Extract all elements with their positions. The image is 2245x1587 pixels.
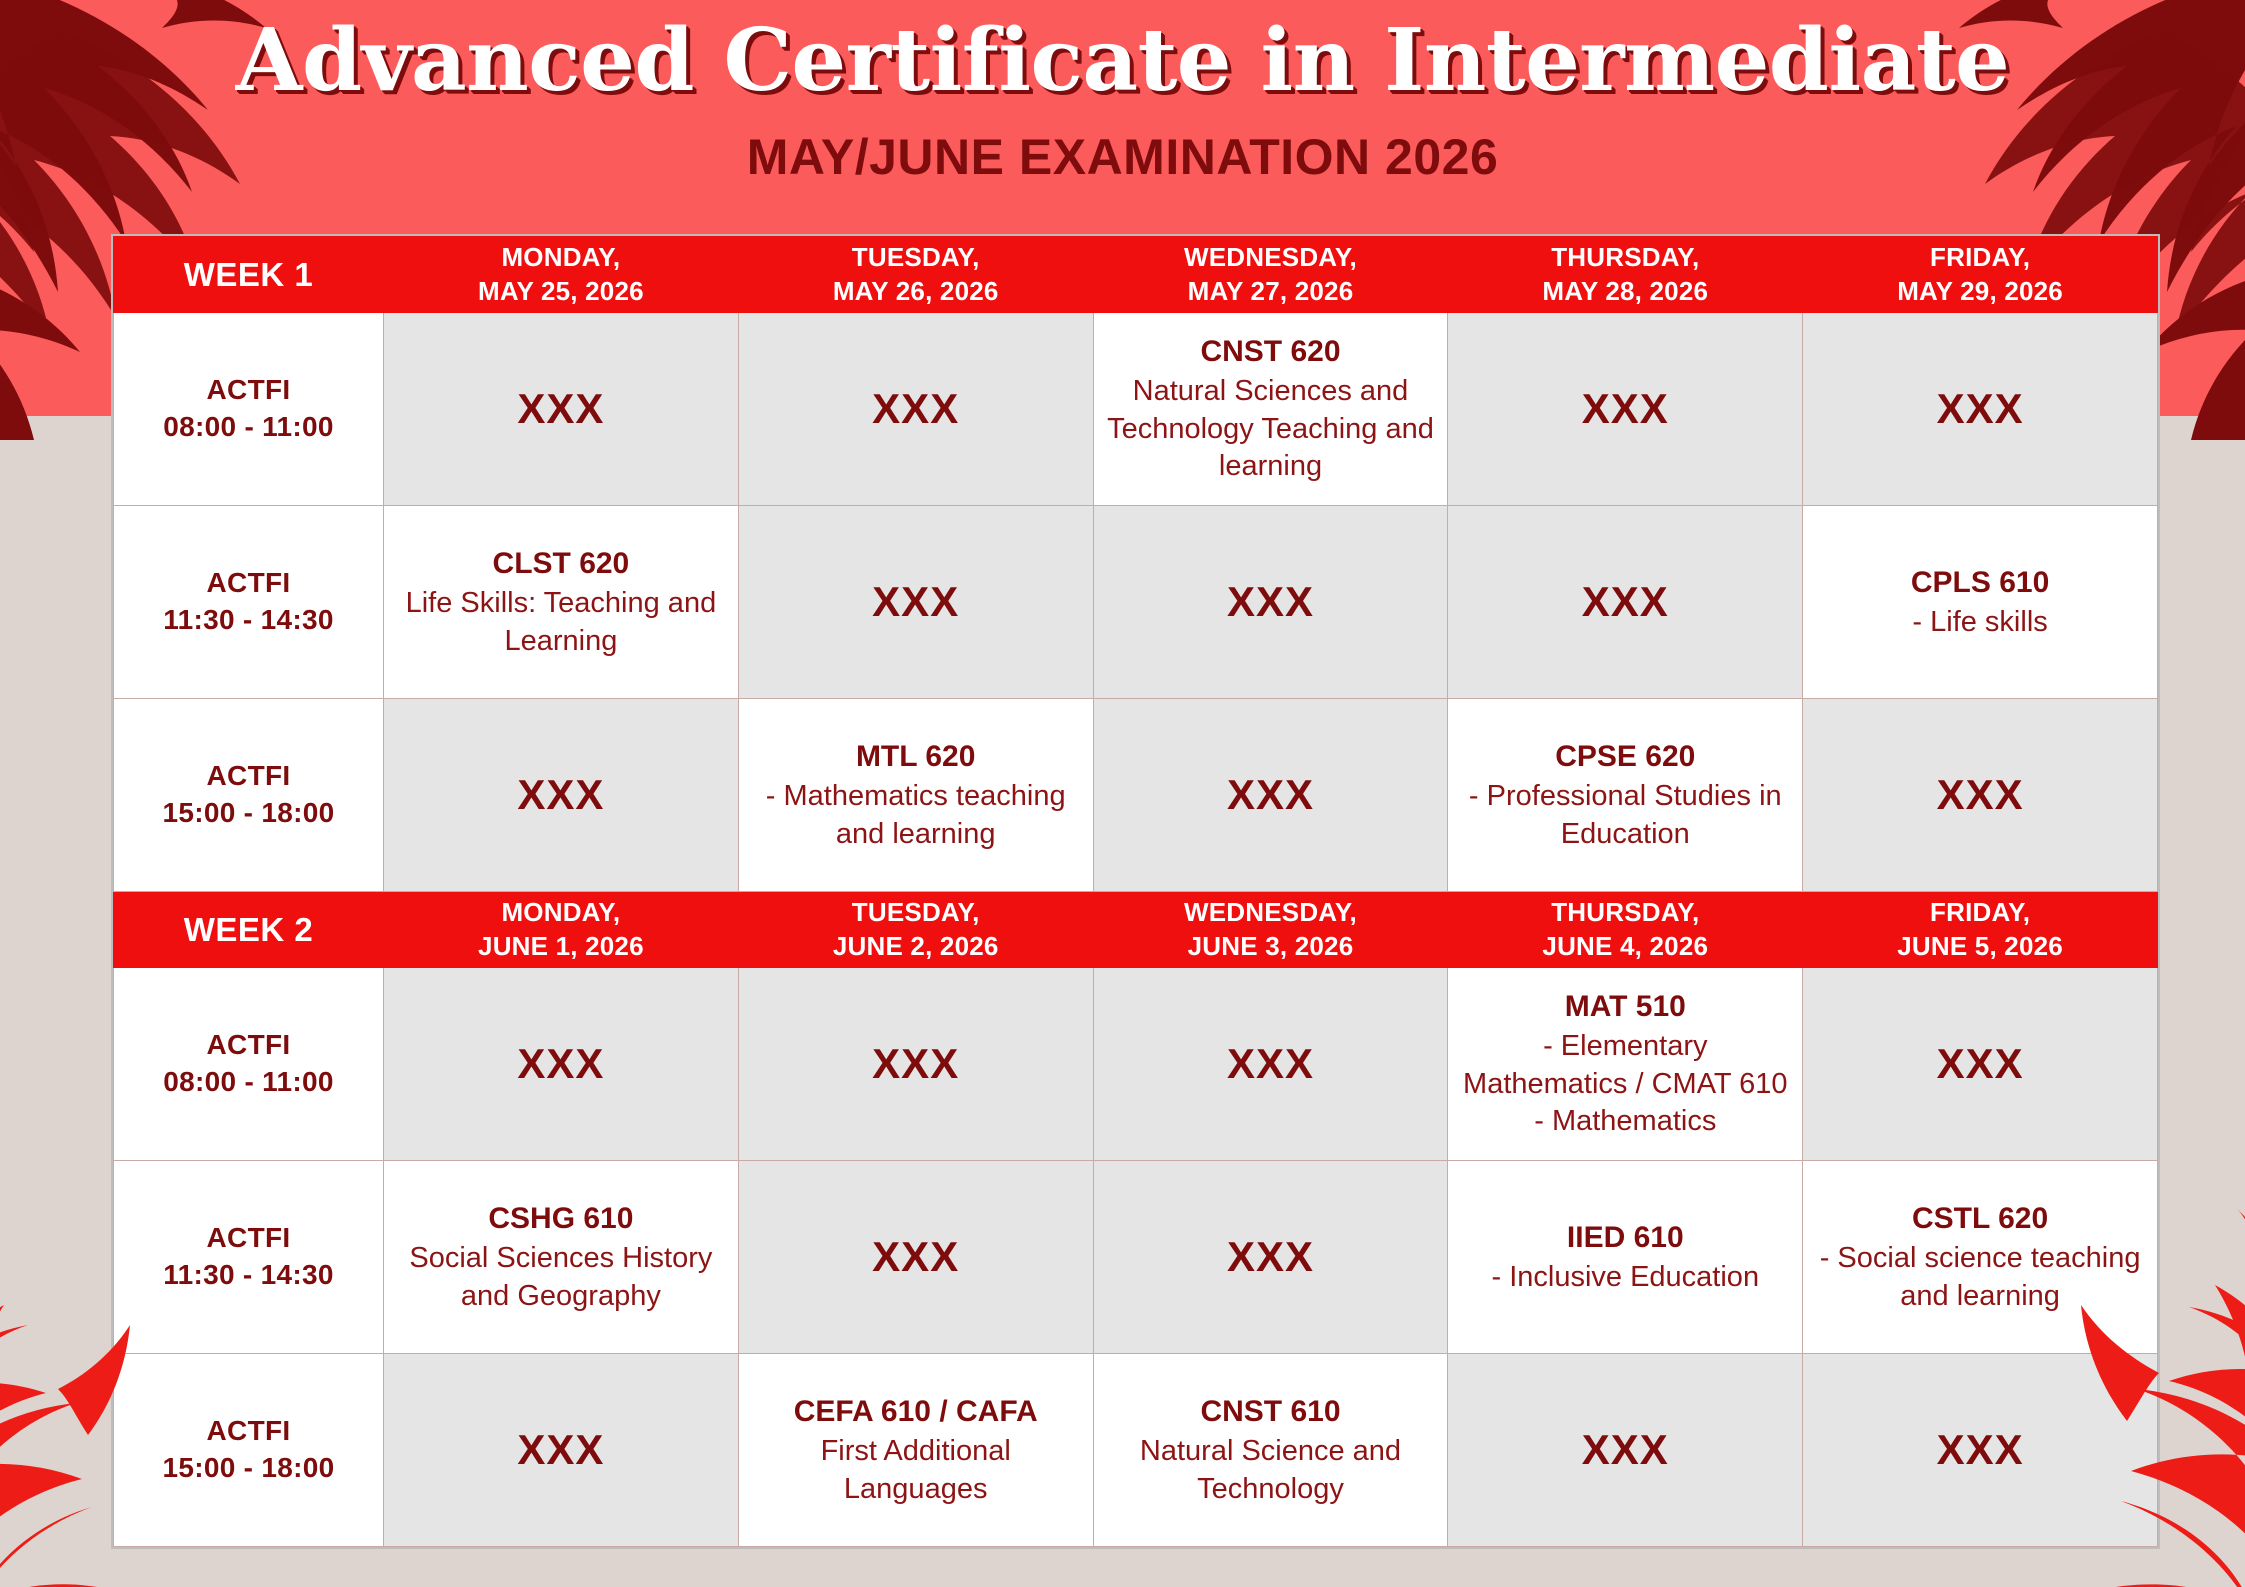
time-range: 08:00 - 11:00 xyxy=(124,1064,373,1101)
week-label-cell: WEEK 1 xyxy=(114,237,384,313)
day-header-label: FRIDAY,JUNE 5, 2026 xyxy=(1809,896,2151,963)
exam-cell: MTL 620- Mathematics teaching and learni… xyxy=(738,699,1093,892)
day-name: WEDNESDAY, xyxy=(1100,896,1442,929)
subject-name: Social Sciences History and Geography xyxy=(394,1240,728,1315)
timetable-row: ACTFI08:00 - 11:00XXXXXXCNST 620Natural … xyxy=(114,313,2158,506)
time-slot-label: ACTFI11:30 - 14:30 xyxy=(124,565,373,639)
day-header-label: TUESDAY,JUNE 2, 2026 xyxy=(745,896,1087,963)
empty-exam-cell: XXX xyxy=(1093,506,1448,699)
empty-exam-cell: XXX xyxy=(1803,968,2158,1161)
empty-exam-cell: XXX xyxy=(384,1354,739,1547)
week-label: WEEK 2 xyxy=(120,911,377,949)
subject-name: Natural Science and Technology xyxy=(1104,1433,1438,1508)
day-header-label: WEDNESDAY,MAY 27, 2026 xyxy=(1100,241,1442,308)
timetable-row: ACTFI15:00 - 18:00XXXMTL 620- Mathematic… xyxy=(114,699,2158,892)
empty-exam-cell: XXX xyxy=(1803,1354,2158,1547)
day-header-cell: TUESDAY,JUNE 2, 2026 xyxy=(738,892,1093,968)
no-exam-marker: XXX xyxy=(1813,771,2147,819)
empty-exam-cell: XXX xyxy=(1093,968,1448,1161)
exam-cell: CSTL 620- Social science teaching and le… xyxy=(1803,1161,2158,1354)
day-header-label: THURSDAY,MAY 28, 2026 xyxy=(1454,241,1796,308)
timetable-row: ACTFI08:00 - 11:00XXXXXXXXXMAT 510- Elem… xyxy=(114,968,2158,1161)
subject-code: IIED 610 xyxy=(1458,1218,1792,1257)
subject-name: First Additional Languages xyxy=(749,1433,1083,1508)
time-range: 15:00 - 18:00 xyxy=(124,1450,373,1487)
timetable-row: ACTFI11:30 - 14:30CSHG 610Social Science… xyxy=(114,1161,2158,1354)
day-name: TUESDAY, xyxy=(745,241,1087,274)
subject-name: Natural Sciences and Technology Teaching… xyxy=(1104,373,1438,486)
subject-code: MTL 620 xyxy=(749,737,1083,776)
day-header-label: THURSDAY,JUNE 4, 2026 xyxy=(1454,896,1796,963)
day-header-label: FRIDAY,MAY 29, 2026 xyxy=(1809,241,2151,308)
exam-cell: CNST 610Natural Science and Technology xyxy=(1093,1354,1448,1547)
time-slot-label: ACTFI15:00 - 18:00 xyxy=(124,758,373,832)
day-date: MAY 27, 2026 xyxy=(1100,275,1442,308)
time-range: 11:30 - 14:30 xyxy=(124,602,373,639)
subject-code: CLST 620 xyxy=(394,544,728,583)
exam-timetable: WEEK 1MONDAY,MAY 25, 2026TUESDAY,MAY 26,… xyxy=(113,236,2158,1547)
empty-exam-cell: XXX xyxy=(1448,506,1803,699)
day-date: MAY 28, 2026 xyxy=(1454,275,1796,308)
day-header-label: WEDNESDAY,JUNE 3, 2026 xyxy=(1100,896,1442,963)
no-exam-marker: XXX xyxy=(1104,1040,1438,1088)
day-header-cell: THURSDAY,MAY 28, 2026 xyxy=(1448,237,1803,313)
time-slot-label: ACTFI08:00 - 11:00 xyxy=(124,1027,373,1101)
empty-exam-cell: XXX xyxy=(1803,699,2158,892)
subject-code: CNST 610 xyxy=(1104,1392,1438,1431)
day-date: JUNE 2, 2026 xyxy=(745,930,1087,963)
no-exam-marker: XXX xyxy=(1813,385,2147,433)
exam-cell: IIED 610- Inclusive Education xyxy=(1448,1161,1803,1354)
week-header-row: WEEK 2MONDAY,JUNE 1, 2026TUESDAY,JUNE 2,… xyxy=(114,892,2158,968)
time-slot-cell: ACTFI15:00 - 18:00 xyxy=(114,699,384,892)
subject-code: CNST 620 xyxy=(1104,332,1438,371)
exam-cell: CPSE 620- Professional Studies in Educat… xyxy=(1448,699,1803,892)
time-slot-label: ACTFI15:00 - 18:00 xyxy=(124,1413,373,1487)
subject-name: - Life skills xyxy=(1813,604,2147,642)
timetable-row: ACTFI15:00 - 18:00XXXCEFA 610 / CAFAFirs… xyxy=(114,1354,2158,1547)
exam-cell: MAT 510- Elementary Mathematics / CMAT 6… xyxy=(1448,968,1803,1161)
no-exam-marker: XXX xyxy=(749,385,1083,433)
day-header-cell: TUESDAY,MAY 26, 2026 xyxy=(738,237,1093,313)
exam-timetable-poster: Advanced Certificate in Intermediate MAY… xyxy=(0,0,2245,1587)
empty-exam-cell: XXX xyxy=(1448,313,1803,506)
time-slot-cell: ACTFI08:00 - 11:00 xyxy=(114,313,384,506)
day-date: JUNE 1, 2026 xyxy=(390,930,732,963)
day-date: MAY 25, 2026 xyxy=(390,275,732,308)
week-header-row: WEEK 1MONDAY,MAY 25, 2026TUESDAY,MAY 26,… xyxy=(114,237,2158,313)
day-name: THURSDAY, xyxy=(1454,241,1796,274)
empty-exam-cell: XXX xyxy=(738,506,1093,699)
day-name: FRIDAY, xyxy=(1809,241,2151,274)
no-exam-marker: XXX xyxy=(749,1040,1083,1088)
time-slot-label: ACTFI08:00 - 11:00 xyxy=(124,372,373,446)
day-date: MAY 29, 2026 xyxy=(1809,275,2151,308)
poster-header: Advanced Certificate in Intermediate MAY… xyxy=(0,0,2245,186)
subject-code: CPLS 610 xyxy=(1813,563,2147,602)
no-exam-marker: XXX xyxy=(1458,1426,1792,1474)
no-exam-marker: XXX xyxy=(1813,1040,2147,1088)
day-date: JUNE 5, 2026 xyxy=(1809,930,2151,963)
day-header-label: MONDAY,JUNE 1, 2026 xyxy=(390,896,732,963)
subject-name: - Elementary Mathematics / CMAT 610 - Ma… xyxy=(1458,1028,1792,1141)
empty-exam-cell: XXX xyxy=(1093,699,1448,892)
exam-cell: CNST 620Natural Sciences and Technology … xyxy=(1093,313,1448,506)
subject-code: CEFA 610 / CAFA xyxy=(749,1392,1083,1431)
page-subtitle: MAY/JUNE EXAMINATION 2026 xyxy=(0,128,2245,186)
subject-code: CPSE 620 xyxy=(1458,737,1792,776)
no-exam-marker: XXX xyxy=(394,1426,728,1474)
day-name: FRIDAY, xyxy=(1809,896,2151,929)
day-header-cell: FRIDAY,JUNE 5, 2026 xyxy=(1803,892,2158,968)
exam-cell: CSHG 610Social Sciences History and Geog… xyxy=(384,1161,739,1354)
day-name: TUESDAY, xyxy=(745,896,1087,929)
day-name: MONDAY, xyxy=(390,896,732,929)
subject-name: - Inclusive Education xyxy=(1458,1259,1792,1297)
programme-code: ACTFI xyxy=(124,758,373,795)
timetable-row: ACTFI11:30 - 14:30CLST 620Life Skills: T… xyxy=(114,506,2158,699)
time-range: 15:00 - 18:00 xyxy=(124,795,373,832)
day-header-cell: WEDNESDAY,MAY 27, 2026 xyxy=(1093,237,1448,313)
empty-exam-cell: XXX xyxy=(384,313,739,506)
no-exam-marker: XXX xyxy=(749,578,1083,626)
empty-exam-cell: XXX xyxy=(738,1161,1093,1354)
no-exam-marker: XXX xyxy=(394,771,728,819)
subject-code: CSTL 620 xyxy=(1813,1199,2147,1238)
day-header-label: MONDAY,MAY 25, 2026 xyxy=(390,241,732,308)
subject-code: CSHG 610 xyxy=(394,1199,728,1238)
week-label: WEEK 1 xyxy=(120,256,377,294)
no-exam-marker: XXX xyxy=(1458,578,1792,626)
empty-exam-cell: XXX xyxy=(384,968,739,1161)
day-header-cell: MONDAY,JUNE 1, 2026 xyxy=(384,892,739,968)
no-exam-marker: XXX xyxy=(1104,578,1438,626)
empty-exam-cell: XXX xyxy=(738,968,1093,1161)
programme-code: ACTFI xyxy=(124,1027,373,1064)
subject-name: - Mathematics teaching and learning xyxy=(749,778,1083,853)
day-name: THURSDAY, xyxy=(1454,896,1796,929)
no-exam-marker: XXX xyxy=(749,1233,1083,1281)
no-exam-marker: XXX xyxy=(1813,1426,2147,1474)
no-exam-marker: XXX xyxy=(394,385,728,433)
day-date: MAY 26, 2026 xyxy=(745,275,1087,308)
exam-cell: CLST 620Life Skills: Teaching and Learni… xyxy=(384,506,739,699)
time-slot-cell: ACTFI15:00 - 18:00 xyxy=(114,1354,384,1547)
no-exam-marker: XXX xyxy=(394,1040,728,1088)
empty-exam-cell: XXX xyxy=(1448,1354,1803,1547)
programme-code: ACTFI xyxy=(124,372,373,409)
day-header-cell: WEDNESDAY,JUNE 3, 2026 xyxy=(1093,892,1448,968)
week-label-cell: WEEK 2 xyxy=(114,892,384,968)
empty-exam-cell: XXX xyxy=(738,313,1093,506)
empty-exam-cell: XXX xyxy=(1803,313,2158,506)
day-date: JUNE 3, 2026 xyxy=(1100,930,1442,963)
programme-code: ACTFI xyxy=(124,1413,373,1450)
time-slot-label: ACTFI11:30 - 14:30 xyxy=(124,1220,373,1294)
day-header-cell: FRIDAY,MAY 29, 2026 xyxy=(1803,237,2158,313)
time-range: 08:00 - 11:00 xyxy=(124,409,373,446)
time-slot-cell: ACTFI11:30 - 14:30 xyxy=(114,506,384,699)
page-title: Advanced Certificate in Intermediate xyxy=(0,0,2245,106)
subject-name: Life Skills: Teaching and Learning xyxy=(394,585,728,660)
empty-exam-cell: XXX xyxy=(384,699,739,892)
day-date: JUNE 4, 2026 xyxy=(1454,930,1796,963)
no-exam-marker: XXX xyxy=(1104,1233,1438,1281)
day-header-label: TUESDAY,MAY 26, 2026 xyxy=(745,241,1087,308)
time-range: 11:30 - 14:30 xyxy=(124,1257,373,1294)
day-name: MONDAY, xyxy=(390,241,732,274)
subject-name: - Professional Studies in Education xyxy=(1458,778,1792,853)
time-slot-cell: ACTFI08:00 - 11:00 xyxy=(114,968,384,1161)
exam-cell: CEFA 610 / CAFAFirst Additional Language… xyxy=(738,1354,1093,1547)
day-header-cell: THURSDAY,JUNE 4, 2026 xyxy=(1448,892,1803,968)
empty-exam-cell: XXX xyxy=(1093,1161,1448,1354)
time-slot-cell: ACTFI11:30 - 14:30 xyxy=(114,1161,384,1354)
subject-name: - Social science teaching and learning xyxy=(1813,1240,2147,1315)
programme-code: ACTFI xyxy=(124,565,373,602)
no-exam-marker: XXX xyxy=(1458,385,1792,433)
day-name: WEDNESDAY, xyxy=(1100,241,1442,274)
exam-cell: CPLS 610- Life skills xyxy=(1803,506,2158,699)
day-header-cell: MONDAY,MAY 25, 2026 xyxy=(384,237,739,313)
no-exam-marker: XXX xyxy=(1104,771,1438,819)
subject-code: MAT 510 xyxy=(1458,987,1792,1026)
programme-code: ACTFI xyxy=(124,1220,373,1257)
